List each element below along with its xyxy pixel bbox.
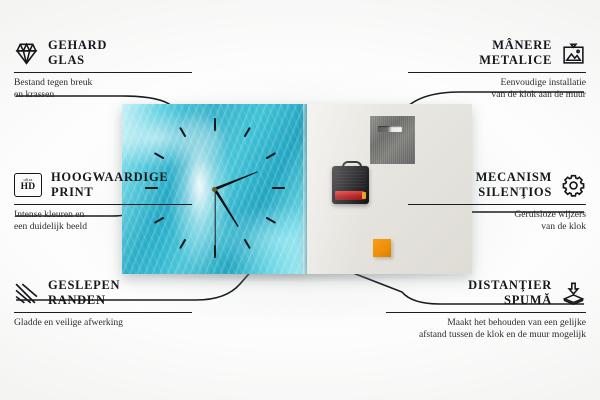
foam-spacer bbox=[373, 239, 391, 257]
diamond-icon bbox=[14, 41, 39, 66]
feature-header: MÂNEREMETALICE bbox=[408, 38, 586, 68]
feature-title: GEHARDGLAS bbox=[48, 38, 107, 68]
diagonal-lines-icon bbox=[14, 281, 39, 306]
divider bbox=[386, 312, 586, 313]
feature-header: DISTANŢIERSPUMĂ bbox=[386, 278, 586, 308]
hanger-slot bbox=[378, 126, 402, 132]
infographic-canvas: GEHARDGLAS Bestand tegen breuken krassen… bbox=[0, 0, 600, 400]
battery bbox=[335, 191, 364, 200]
clock-mechanism bbox=[332, 166, 369, 204]
gear-icon bbox=[561, 173, 586, 198]
divider bbox=[408, 204, 586, 205]
feature-description: Maakt het behouden van een gelijkeafstan… bbox=[386, 317, 586, 340]
metal-hanger-plate bbox=[370, 116, 415, 164]
feature-high-quality-print: ultra HD HOOGWAARDIGEPRINT Intense kleur… bbox=[14, 170, 192, 232]
hand-center-pin bbox=[212, 187, 217, 192]
ultra-hd-label: HD bbox=[21, 183, 36, 193]
feature-description: Gladde en veilige afwerking bbox=[14, 317, 192, 329]
hour-mark bbox=[272, 187, 285, 189]
feature-header: MECANISMSILENŢIOS bbox=[408, 170, 586, 200]
feature-silent-mechanism: MECANISMSILENŢIOS Geruisloze wijzersvan … bbox=[408, 170, 586, 232]
feature-metal-handles: MÂNEREMETALICE Eenvoudige installatievan… bbox=[408, 38, 586, 100]
picture-frame-hanger-icon bbox=[561, 41, 586, 66]
mechanism-housing bbox=[335, 169, 366, 187]
press-down-pad-icon bbox=[561, 281, 586, 306]
divider bbox=[408, 72, 586, 73]
divider bbox=[14, 204, 192, 205]
feature-header: ultra HD HOOGWAARDIGEPRINT bbox=[14, 170, 192, 200]
feature-description: Intense kleuren eneen duidelijk beeld bbox=[14, 209, 192, 232]
feature-tempered-glass: GEHARDGLAS Bestand tegen breuken krassen bbox=[14, 38, 192, 100]
feature-title: HOOGWAARDIGEPRINT bbox=[51, 170, 168, 200]
feature-title: DISTANŢIERSPUMĂ bbox=[468, 278, 552, 308]
mechanism-hanging-loop bbox=[342, 161, 362, 172]
feature-header: GESLEPENRANDEN bbox=[14, 278, 192, 308]
divider bbox=[14, 312, 192, 313]
feature-title: GESLEPENRANDEN bbox=[48, 278, 120, 308]
feature-title: MECANISMSILENŢIOS bbox=[476, 170, 552, 200]
ultra-hd-icon: ultra HD bbox=[14, 173, 42, 197]
divider bbox=[14, 72, 192, 73]
feature-polished-edges: GESLEPENRANDEN Gladde en veilige afwerki… bbox=[14, 278, 192, 329]
feature-header: GEHARDGLAS bbox=[14, 38, 192, 68]
feature-description: Geruisloze wijzersvan de klok bbox=[408, 209, 586, 232]
feature-description: Bestand tegen breuken krassen bbox=[14, 77, 192, 100]
feature-foam-spacer: DISTANŢIERSPUMĂ Maakt het behouden van e… bbox=[386, 278, 586, 340]
hour-mark bbox=[214, 118, 216, 131]
feature-description: Eenvoudige installatievan de klok aan de… bbox=[408, 77, 586, 100]
feature-title: MÂNEREMETALICE bbox=[479, 38, 552, 68]
second-hand bbox=[214, 189, 215, 249]
